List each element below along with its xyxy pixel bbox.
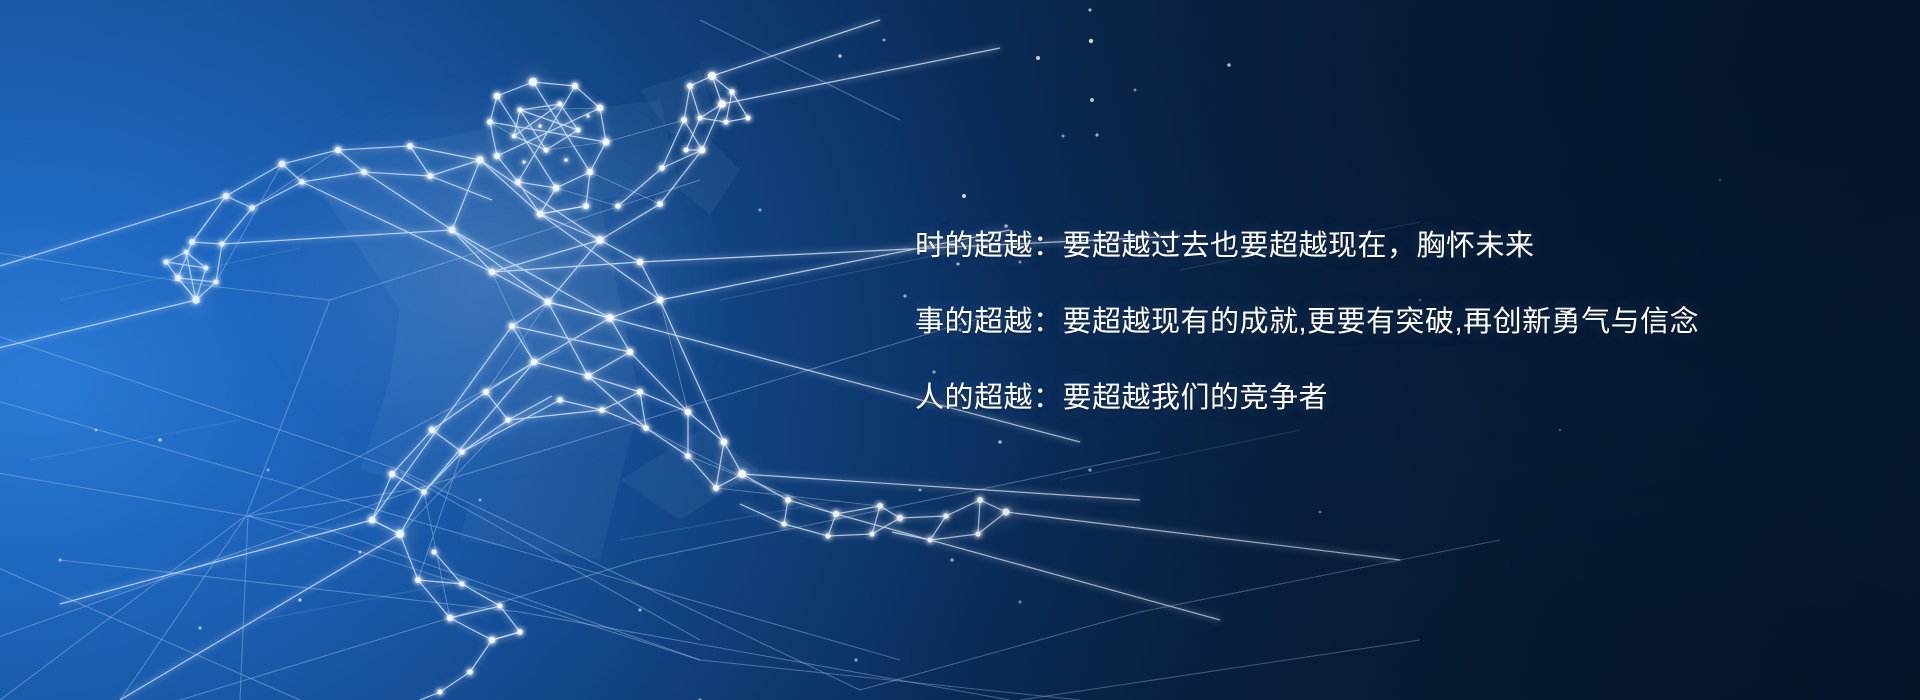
slogan-text-block: 时的超越：要超越过去也要超越现在，胸怀未来 事的超越：要超越现有的成就,更要有突… [915,232,1815,413]
hero-banner: 时的超越：要超越过去也要超越现在，胸怀未来 事的超越：要超越现有的成就,更要有突… [0,0,1920,700]
slogan-line-time: 时的超越：要超越过去也要超越现在，胸怀未来 [915,232,1815,261]
slogan-line-people: 人的超越：要超越我们的竞争者 [915,384,1815,413]
slogan-line-matter: 事的超越：要超越现有的成就,更要有突破,再创新勇气与信念 [915,308,1815,337]
